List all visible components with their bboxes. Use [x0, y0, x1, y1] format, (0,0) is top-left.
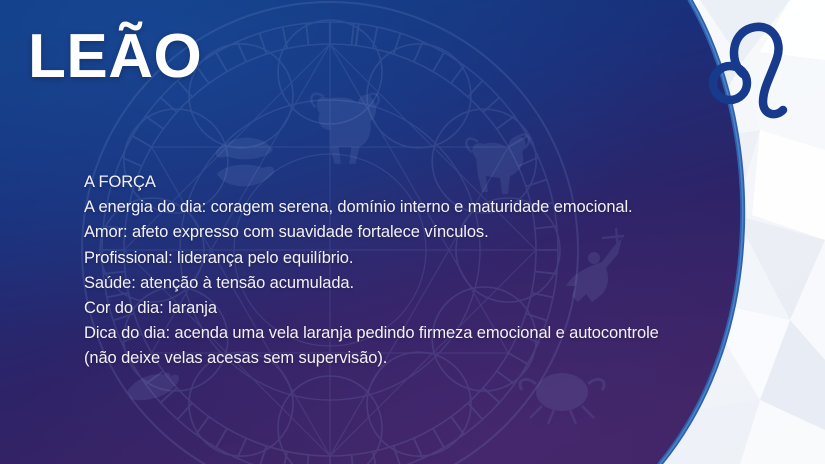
horoscope-body: A FORÇA A energia do dia: coragem serena… — [84, 170, 774, 372]
leo-zodiac-glyph — [707, 14, 803, 126]
body-line-dica-do-dia: Dica do dia: acenda uma vela laranja ped… — [84, 321, 774, 346]
body-line-cor-do-dia: Cor do dia: laranja — [84, 296, 774, 321]
sign-title: LEÃO — [28, 26, 202, 88]
body-line-aviso: (não deixe velas acesas sem supervisão). — [84, 346, 774, 371]
body-line-saude: Saúde: atenção à tensão acumulada. — [84, 271, 774, 296]
body-line-profissional: Profissional: liderança pelo equilíbrio. — [84, 246, 774, 271]
body-line-amor: Amor: afeto expresso com suavidade forta… — [84, 220, 774, 245]
body-heading: A FORÇA — [84, 170, 774, 195]
body-line-energia: A energia do dia: coragem serena, domíni… — [84, 195, 774, 220]
horoscope-card: LEÃO A FORÇA A energia do dia: coragem s… — [0, 0, 825, 464]
